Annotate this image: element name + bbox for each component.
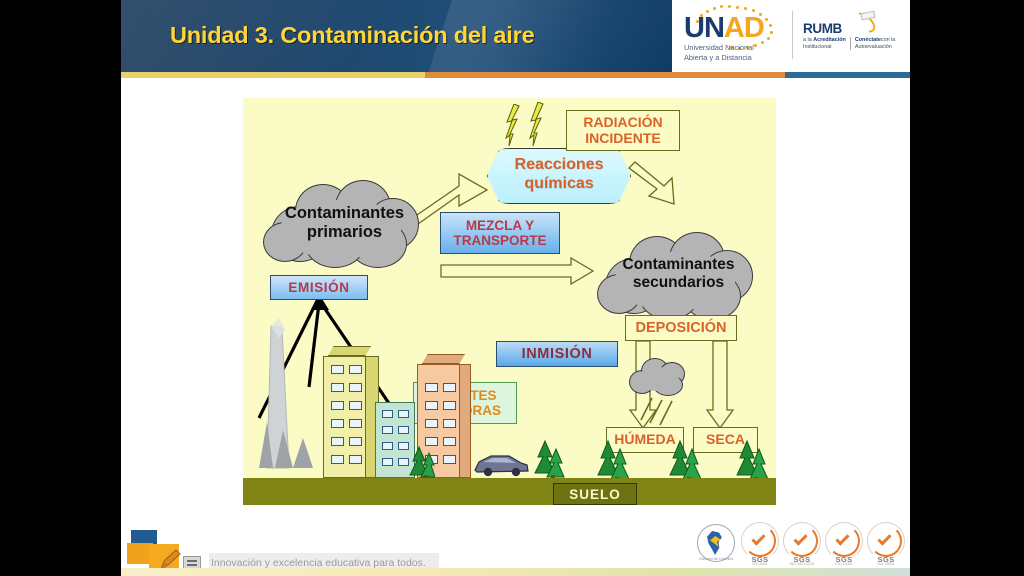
unad-subtitle: Universidad Nacional Abierta y a Distanc… — [684, 43, 788, 62]
reaction-label-line-2: químicas — [524, 175, 593, 192]
footer-decorative-icons — [125, 526, 215, 574]
rumbo-b-line1: con la — [881, 37, 895, 43]
seal-sgs-1: SGS ISO 9001 — [740, 524, 780, 570]
rain-cloud-icon — [627, 356, 689, 398]
reaction-label: Reacciones químicas — [487, 155, 631, 193]
suelo-text: SUELO — [569, 487, 621, 502]
unad-logo: UNAD Universidad Nacional Abierta y a Di… — [684, 5, 788, 67]
sgs-cert-text-4: ISO 45001 — [866, 562, 906, 566]
lightning-bolt-icon-2 — [529, 102, 545, 146]
cloud-secondary-label-line-1: Contaminantes — [623, 256, 735, 273]
tree-icon-1 — [533, 437, 565, 481]
rumbo-taglines: a la Acreditación Institucional Conéctat… — [803, 37, 903, 50]
slide-canvas: Unidad 3. Contaminación del aire — [121, 0, 910, 576]
unad-letter-n: N — [704, 12, 724, 44]
unad-subtitle-line-1: Universidad Nacional — [684, 43, 788, 53]
sgs-cert-text-2: ISO 9001:2015 — [782, 562, 822, 566]
certification-seals: Gobierno de Colombia SGS ISO 9001 SGS — [694, 522, 906, 570]
sgs-cert-text-3: ISO 14001 — [824, 562, 864, 566]
unad-subtitle-line-2: Abierta y a Distancia — [684, 53, 788, 63]
letterbox-right — [910, 0, 1024, 576]
page-title: Unidad 3. Contaminación del aire — [170, 22, 534, 49]
cloud-primary-label-line-2: primarios — [307, 223, 382, 241]
tree-icon-2 — [596, 437, 630, 483]
rumbo-logo: RUMB a la Acreditación Institucional Con… — [803, 22, 903, 50]
cloud-secondary-label-line-2: secundarios — [633, 274, 724, 291]
arrow-deposicion-seca — [707, 341, 733, 428]
rumbo-accreditation-col: a la Acreditación Institucional — [803, 37, 850, 50]
logo-panel: UNAD Universidad Nacional Abierta y a Di… — [672, 0, 910, 72]
colombia-seal-text: Gobierno de Colombia — [694, 557, 738, 561]
cloud-contaminantes-primarios: Contaminantes primarios — [263, 176, 426, 270]
tree-icon-4 — [735, 437, 769, 483]
cloud-contaminantes-secundarios: Contaminantes secundarios — [597, 228, 760, 322]
rain-streaks — [641, 398, 672, 425]
label-deposicion: DEPOSICIÓN — [625, 315, 737, 341]
rumbo-a-line2: Institucional — [803, 44, 846, 51]
reaction-label-line-1: Reacciones — [515, 156, 604, 173]
seal-colombia: Gobierno de Colombia — [694, 524, 738, 570]
unad-letter-u: U — [684, 12, 704, 44]
building-orange-side — [459, 364, 471, 478]
logo-divider — [792, 11, 793, 59]
rumbo-b-line2: Autoevaluación — [855, 44, 895, 51]
letterbox-left — [0, 0, 121, 576]
mezcla-line-1: MEZCLA Y — [466, 218, 534, 233]
city-emission-sources — [243, 308, 543, 478]
building-orange-roof — [417, 354, 465, 364]
sgs-cert-text-1: ISO 9001 — [740, 562, 780, 566]
rumbo-a-line1: a la — [803, 37, 812, 43]
emision-text: EMISIÓN — [288, 280, 349, 295]
air-pollution-diagram: Contaminantes primarios Contaminantes — [243, 98, 776, 505]
rumbo-wordmark: RUMB — [803, 22, 903, 35]
rumbo-book-icon — [860, 11, 875, 21]
arrow-mezcla-transport — [441, 258, 593, 284]
node-reacciones-quimicas: Reacciones químicas — [487, 148, 631, 204]
tree-icon-5 — [409, 443, 435, 481]
presentation-slide: Unidad 3. Contaminación del aire — [0, 0, 1024, 576]
car-icon — [471, 448, 531, 478]
rumbo-selfeval-col: Conéctatecon la Autoevaluación — [850, 37, 899, 50]
rumbo-a-bold: Acreditación — [813, 37, 846, 43]
seal-sgs-3: SGS ISO 14001 — [824, 524, 864, 570]
slide-header: Unidad 3. Contaminación del aire — [121, 0, 910, 72]
radiacion-line-1: RADIACIÓN — [583, 115, 662, 131]
footer-ribbon — [121, 568, 910, 576]
mezcla-line-2: TRANSPORTE — [453, 233, 546, 248]
unad-wordmark: UNAD — [684, 13, 788, 43]
label-radiacion-incidente: RADIACIÓN INCIDENTE — [566, 110, 680, 151]
cloud-primary-label-line-1: Contaminantes — [285, 204, 404, 222]
unad-letters-ad: AD — [724, 12, 764, 44]
arrow-reaction-to-secondary — [629, 162, 674, 204]
lightning-bolt-icon-1 — [505, 104, 521, 146]
radiacion-line-2: INCIDENTE — [585, 131, 660, 147]
slide-body: Contaminantes primarios Contaminantes — [121, 78, 910, 576]
label-mezcla-y-transporte: MEZCLA Y TRANSPORTE — [440, 212, 560, 254]
tree-icon-3 — [668, 437, 702, 483]
label-emision: EMISIÓN — [270, 275, 368, 300]
deposicion-text: DEPOSICIÓN — [635, 320, 726, 337]
slide-footer: Innovación y excelencia educativa para t… — [121, 520, 910, 576]
seal-sgs-2: SGS ISO 9001:2015 — [782, 524, 822, 570]
ground-strip — [243, 478, 776, 505]
rumbo-text: RUMB — [803, 21, 842, 36]
rumbo-b-bold: Conéctate — [855, 37, 881, 43]
label-suelo: SUELO — [553, 483, 637, 505]
seal-sgs-4: SGS ISO 45001 — [866, 524, 906, 570]
